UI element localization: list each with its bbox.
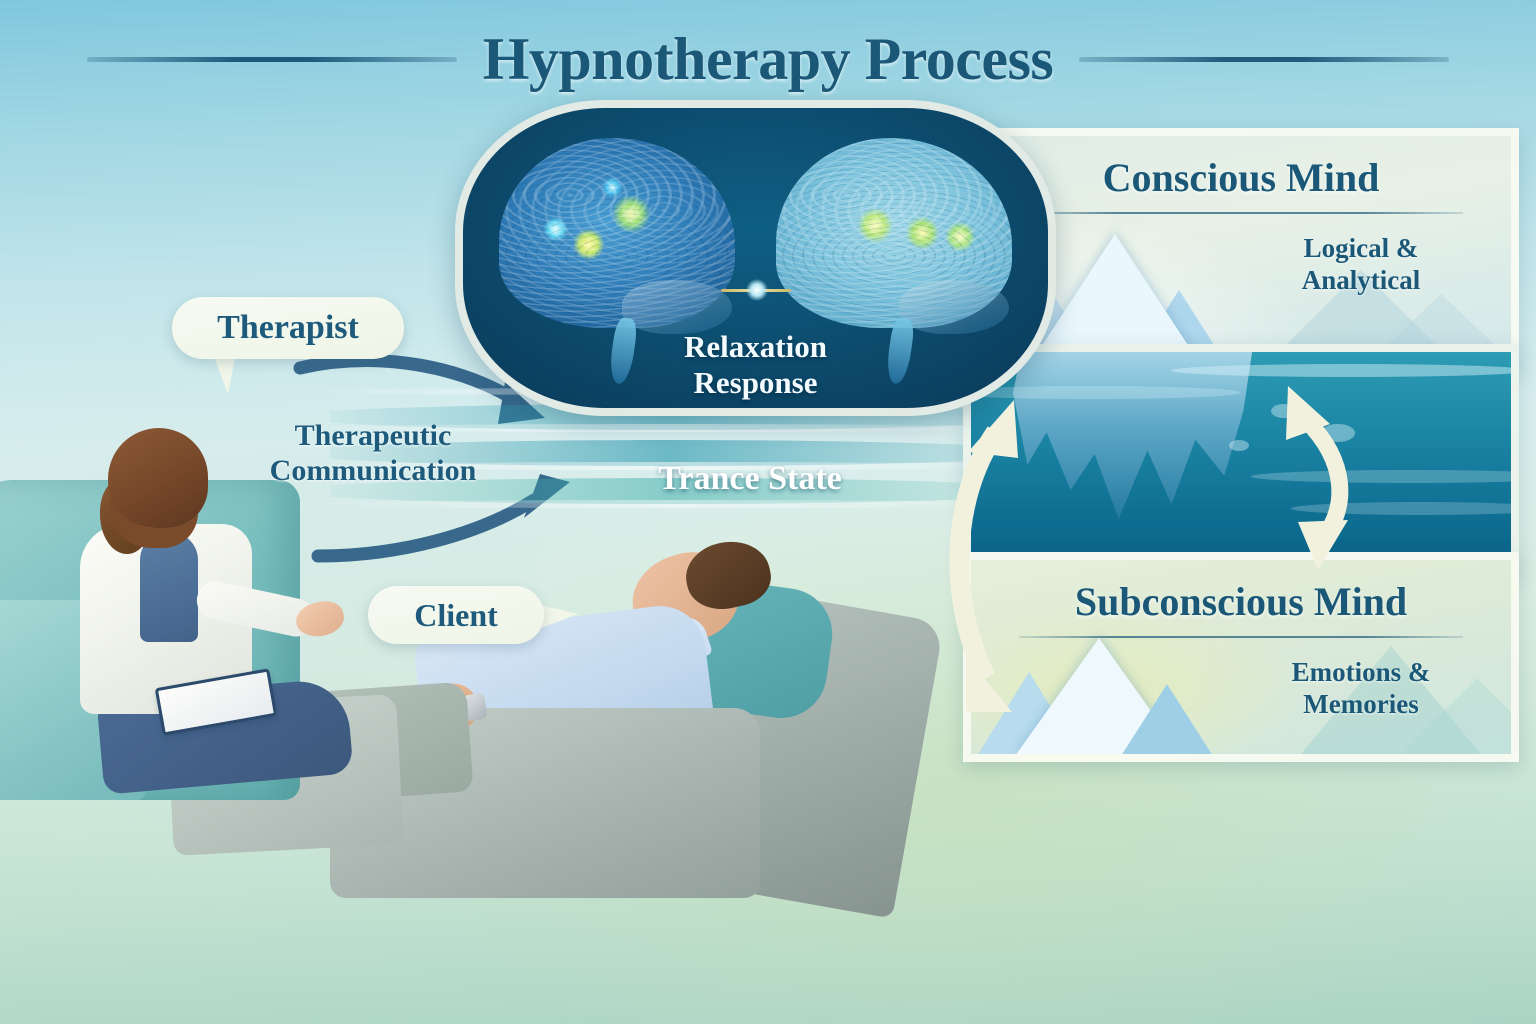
conscious-mind-title: Conscious Mind xyxy=(971,154,1511,201)
subconscious-title-underline xyxy=(1019,636,1463,638)
infographic-canvas: Hypnotherapy Process Trance State xyxy=(0,0,1536,1024)
brain-right-icon xyxy=(776,138,1012,328)
bubble-dot xyxy=(1229,440,1249,451)
iceberg-tip-icon xyxy=(1121,684,1213,756)
title-rule-right xyxy=(1079,57,1449,62)
conscious-title-underline xyxy=(1019,212,1463,214)
subconscious-sub-line-2: Memories xyxy=(1251,688,1471,720)
therapist-shirt xyxy=(140,532,198,642)
cerebellum-left xyxy=(622,280,732,334)
neural-link-glow-icon xyxy=(746,279,768,301)
client-label-bubble[interactable]: Client xyxy=(368,586,544,644)
brain-panel: Relaxation Response xyxy=(455,100,1056,416)
iceberg-tip-icon xyxy=(1031,234,1199,362)
conscious-sub-line-2: Analytical xyxy=(1251,264,1471,296)
conscious-mind-subtitle: Logical & Analytical xyxy=(1251,232,1471,297)
subconscious-mind-title: Subconscious Mind xyxy=(971,578,1511,625)
subconscious-mind-card[interactable]: Subconscious Mind Emotions & Memories xyxy=(963,552,1519,762)
wave-strip xyxy=(1291,502,1519,515)
therapist-hair xyxy=(108,428,208,528)
subconscious-sub-line-1: Emotions & xyxy=(1251,656,1471,688)
title-bar: Hypnotherapy Process xyxy=(0,16,1536,102)
subconscious-mind-subtitle: Emotions & Memories xyxy=(1251,656,1471,721)
relaxation-line-1: Relaxation xyxy=(463,329,1048,364)
wave-strip xyxy=(1251,470,1519,483)
therapeutic-comm-line-2: Communication xyxy=(238,453,508,488)
relaxation-line-2: Response xyxy=(463,365,1048,400)
trance-state-label: Trance State xyxy=(610,460,890,498)
relaxation-response-label: Relaxation Response xyxy=(463,329,1048,400)
bubble-dot xyxy=(1271,404,1297,418)
wave-line xyxy=(330,500,980,508)
client-label: Client xyxy=(414,597,498,634)
therapist-label-bubble[interactable]: Therapist xyxy=(172,297,404,359)
therapist-label: Therapist xyxy=(217,309,359,347)
title-rule-left xyxy=(87,57,457,62)
wave-strip xyxy=(1171,364,1519,377)
conscious-sub-line-1: Logical & xyxy=(1251,232,1471,264)
therapeutic-comm-line-1: Therapeutic xyxy=(238,418,508,453)
brain-left-icon xyxy=(499,138,735,328)
therapeutic-communication-label: Therapeutic Communication xyxy=(238,418,508,489)
page-title: Hypnotherapy Process xyxy=(483,25,1054,94)
cerebellum-right xyxy=(899,280,1009,334)
bubble-dot xyxy=(1321,424,1355,442)
